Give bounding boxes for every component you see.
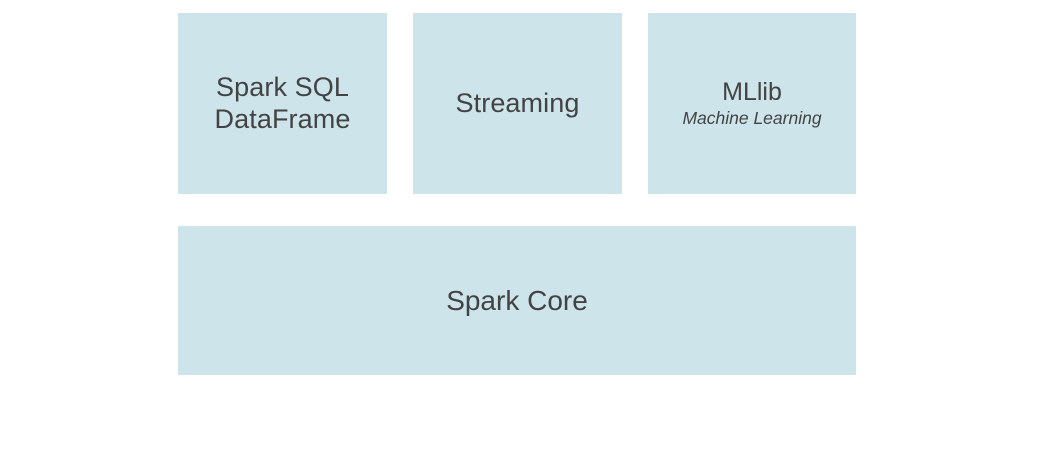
layer-box-spark-sql[interactable]: Spark SQL DataFrame bbox=[178, 13, 387, 194]
layer-title-spark-core: Spark Core bbox=[446, 284, 588, 317]
layer-title-line-1: Spark SQL bbox=[216, 72, 349, 104]
layer-box-mllib[interactable]: MLlib Machine Learning bbox=[648, 13, 856, 194]
layer-title-line-2: DataFrame bbox=[215, 104, 351, 136]
spark-stack-diagram: Spark SQL DataFrame Streaming MLlib Mach… bbox=[0, 0, 1053, 457]
layer-title-streaming: Streaming bbox=[456, 88, 580, 120]
layer-box-spark-core[interactable]: Spark Core bbox=[178, 226, 856, 375]
layer-subtitle-mllib: Machine Learning bbox=[682, 108, 821, 129]
layer-box-streaming[interactable]: Streaming bbox=[413, 13, 622, 194]
layer-title-mllib: MLlib bbox=[722, 78, 782, 108]
